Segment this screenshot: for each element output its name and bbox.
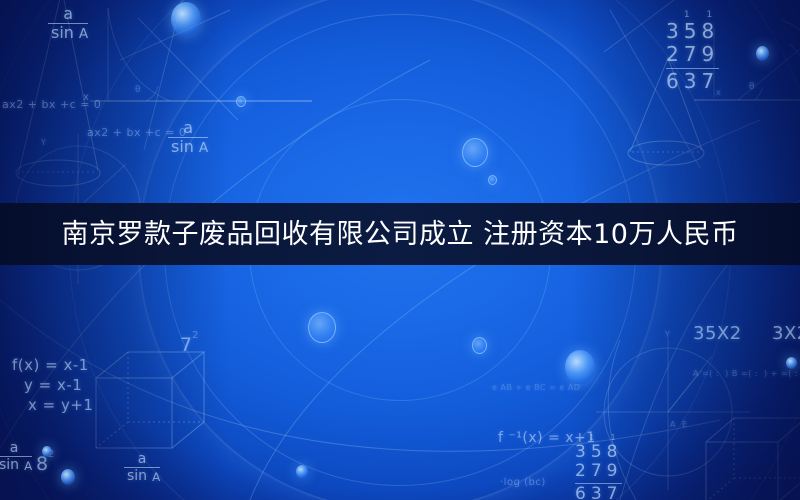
headline-text: 南京罗款子废品回收有限公司成立 注册资本10万人民币 — [62, 221, 739, 248]
banner-image: ax2 + bx +c = 0ax2 + bx +c = 0f(x) = x-1… — [0, 0, 800, 500]
caption-band: 南京罗款子废品回收有限公司成立 注册资本10万人民币 — [0, 203, 800, 265]
